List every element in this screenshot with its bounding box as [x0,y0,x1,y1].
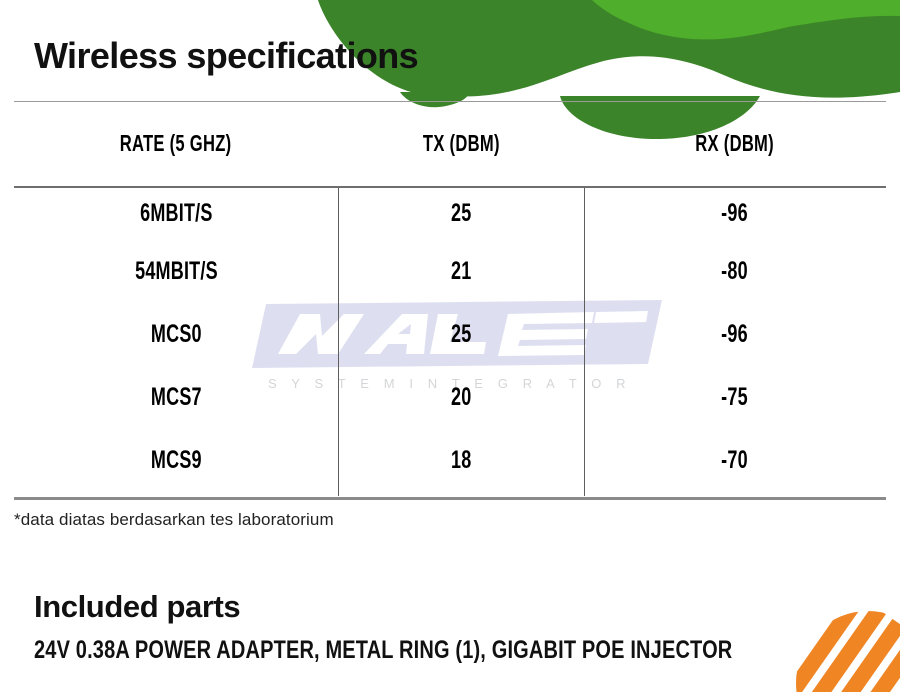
included-parts-heading: Included parts [34,591,240,622]
column-header-tx-label: TX (DBM) [423,130,500,157]
cell-tx: 25 [338,303,584,366]
table-top-rule [14,101,886,102]
included-parts-list: 24V 0.38A POWER ADAPTER, METAL RING (1),… [34,638,900,663]
cell-tx-value: 18 [451,446,471,475]
cell-tx-value: 25 [451,320,471,349]
table-row: 6MBIT/S 25 -96 [14,186,886,240]
column-header-rate-label: RATE (5 GHZ) [120,130,232,157]
cell-rate-value: 6MBIT/S [140,199,213,228]
cell-tx-value: 21 [451,257,471,286]
cell-rx-value: -80 [722,257,749,286]
table-row: 54MBIT/S 21 -80 [14,240,886,303]
column-header-rate: RATE (5 GHZ) [14,101,338,186]
table-divider-1 [338,188,339,496]
cell-tx: 21 [338,240,584,303]
cell-tx-value: 25 [451,199,471,228]
table-bottom-rule [14,497,886,500]
table-header-row: RATE (5 GHZ) TX (DBM) RX (DBM) [14,101,886,186]
table-row: MCS7 20 -75 [14,366,886,429]
cell-tx: 25 [338,186,584,240]
cell-rate: 6MBIT/S [14,186,338,240]
cell-rx: -96 [584,186,886,240]
included-parts-list-text: 24V 0.38A POWER ADAPTER, METAL RING (1),… [34,638,732,663]
table-header-rule [14,186,886,188]
table-row: MCS9 18 -70 [14,429,886,492]
cell-rx-value: -70 [722,446,749,475]
cell-rx: -70 [584,429,886,492]
cell-rate-value: MCS0 [151,320,202,349]
column-header-rx: RX (DBM) [584,101,886,186]
cell-rx-value: -75 [722,383,749,412]
cell-rate-value: MCS7 [151,383,202,412]
table-divider-2 [584,188,585,496]
table-body: 6MBIT/S 25 -96 54MBIT/S 21 -80 MCS0 25 -… [14,186,886,492]
cell-tx: 18 [338,429,584,492]
cell-tx-value: 20 [451,383,471,412]
cell-rate: MCS7 [14,366,338,429]
cell-rx: -96 [584,303,886,366]
cell-rate: MCS9 [14,429,338,492]
page-title: Wireless specifications [34,38,418,74]
cell-rx: -80 [584,240,886,303]
green-wave-light [600,0,900,39]
cell-rx-value: -96 [722,199,749,228]
table-row: MCS0 25 -96 [14,303,886,366]
wireless-specifications-table: RATE (5 GHZ) TX (DBM) RX (DBM) 6MBIT/S 2… [14,101,886,492]
cell-rx: -75 [584,366,886,429]
green-wave-light-upper [592,0,900,37]
cell-rate: MCS0 [14,303,338,366]
table-footnote: *data diatas berdasarkan tes laboratoriu… [14,510,334,530]
cell-rate-value: MCS9 [151,446,202,475]
cell-tx: 20 [338,366,584,429]
column-header-rx-label: RX (DBM) [696,130,775,157]
cell-rate: 54MBIT/S [14,240,338,303]
cell-rate-value: 54MBIT/S [135,257,218,286]
cell-rx-value: -96 [722,320,749,349]
column-header-tx: TX (DBM) [338,101,584,186]
table-header: RATE (5 GHZ) TX (DBM) RX (DBM) [14,101,886,186]
